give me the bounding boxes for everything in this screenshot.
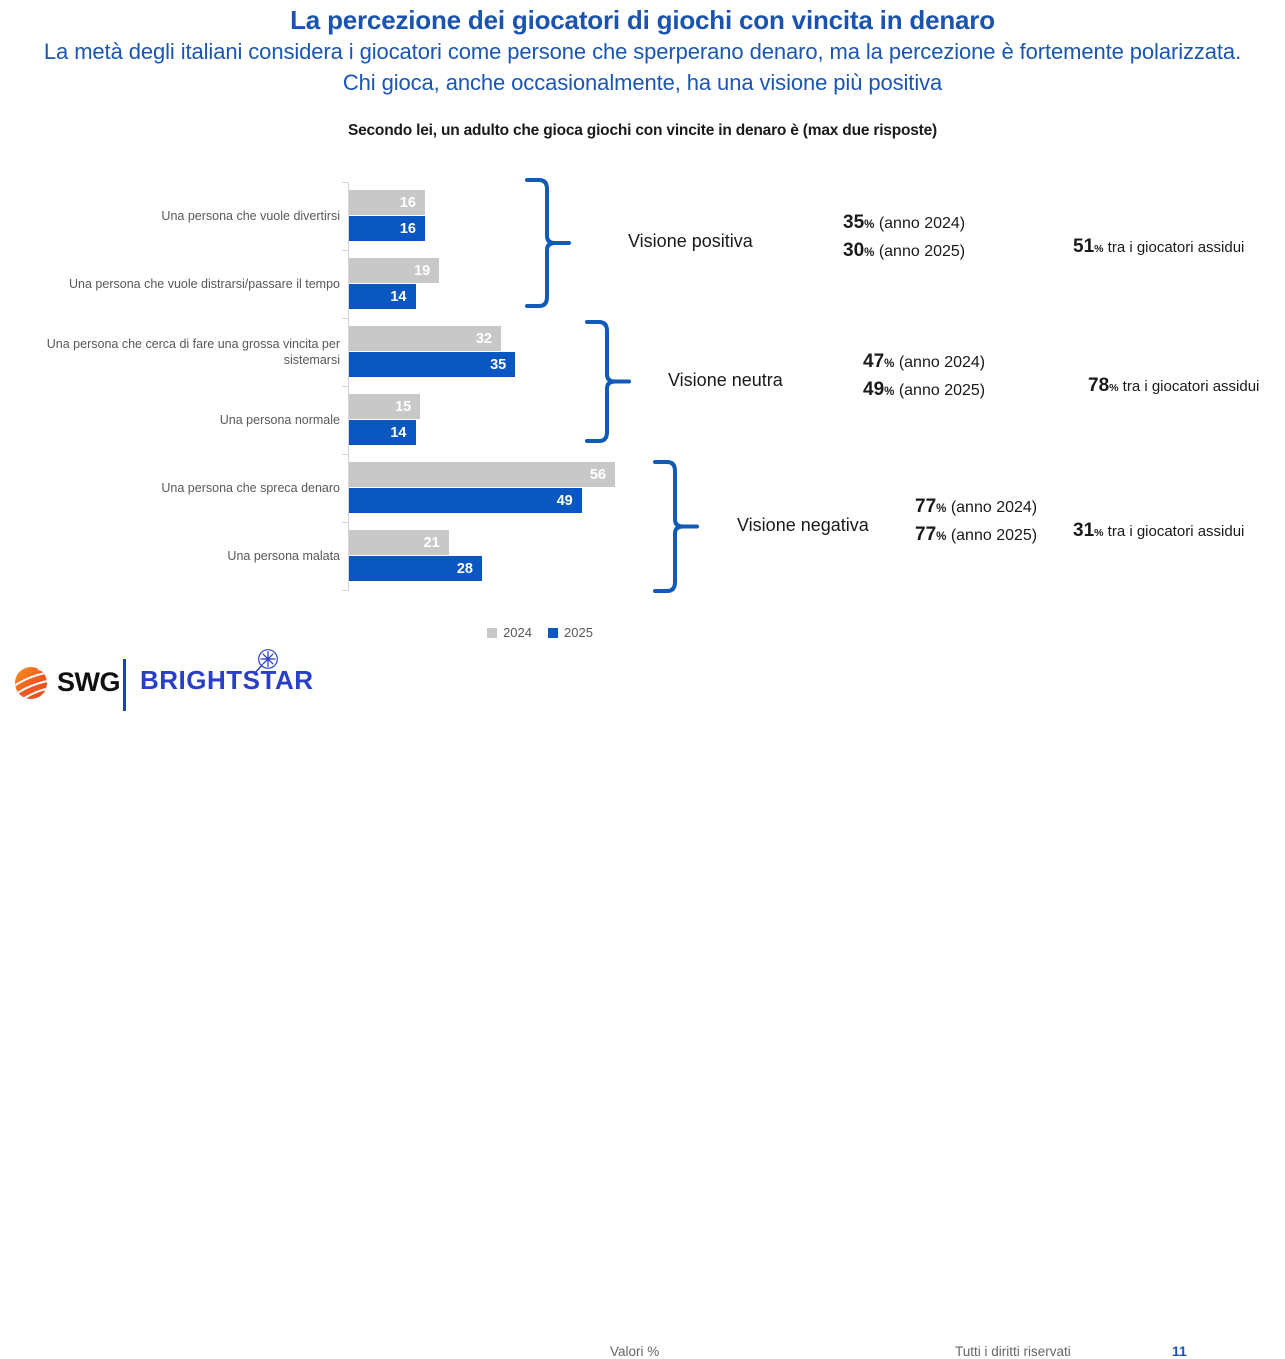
bar-value-label: 16 — [400, 195, 425, 211]
axis-tick — [342, 454, 348, 455]
group-extra-stat: 78% tra i giocatori assidui — [1088, 375, 1259, 397]
bar-2024: 16 — [349, 190, 425, 215]
bar-2025: 16 — [349, 216, 425, 241]
logo-divider — [123, 659, 126, 711]
group-brace — [653, 458, 701, 595]
bar-2025: 28 — [349, 556, 482, 581]
category-label: Una persona che spreca denaro — [40, 462, 340, 513]
legend-swatch — [548, 628, 558, 638]
group-stat-2025: 77% (anno 2025) — [915, 522, 1037, 550]
bar-value-label: 56 — [590, 467, 615, 483]
bar-value-label: 21 — [424, 535, 449, 551]
bar-2024: 56 — [349, 462, 615, 487]
swg-globe-icon — [8, 659, 54, 705]
bar-2025: 35 — [349, 352, 515, 377]
bar-value-label: 14 — [390, 425, 415, 441]
group-stat-2024: 47% (anno 2024) — [863, 349, 985, 377]
bar-2024: 21 — [349, 530, 449, 555]
group-extra-stat: 51% tra i giocatori assidui — [1073, 236, 1244, 258]
chart-legend: 20242025 — [0, 625, 1080, 640]
axis-tick — [342, 522, 348, 523]
group-stat-2024: 35% (anno 2024) — [843, 210, 965, 238]
brightstar-sparkle-icon — [253, 648, 281, 676]
legend-swatch — [487, 628, 497, 638]
bar-value-label: 16 — [400, 221, 425, 237]
bar-value-label: 32 — [476, 331, 501, 347]
axis-tick — [342, 590, 348, 591]
brightstar-logo: BRIGHTSTAR — [140, 665, 314, 696]
axis-tick — [342, 250, 348, 251]
bar-value-label: 28 — [457, 561, 482, 577]
axis-tick — [342, 386, 348, 387]
axis-tick — [342, 182, 348, 183]
group-stat-2024: 77% (anno 2024) — [915, 494, 1037, 522]
bar-2024: 32 — [349, 326, 501, 351]
page-number: 11 — [1172, 1343, 1187, 1359]
bar-2024: 19 — [349, 258, 439, 283]
bar-value-label: 35 — [490, 357, 515, 373]
category-label: Una persona che vuole distrarsi/passare … — [40, 258, 340, 309]
bar-2025: 49 — [349, 488, 582, 513]
category-label: Una persona malata — [40, 530, 340, 581]
bar-2025: 14 — [349, 420, 416, 445]
group-brace — [525, 176, 573, 310]
footer: SWG BRIGHTSTAR Valori % Tutti i diritti … — [0, 655, 1285, 723]
bar-2024: 15 — [349, 394, 420, 419]
axis-tick — [342, 318, 348, 319]
group-stat-2025: 49% (anno 2025) — [863, 377, 985, 405]
group-stats: 77% (anno 2024)77% (anno 2025) — [915, 494, 1037, 550]
group-name-label: Visione positiva — [628, 231, 753, 252]
group-extra-stat: 31% tra i giocatori assidui — [1073, 520, 1244, 542]
footer-values-note: Valori % — [610, 1344, 659, 1359]
bar-2025: 14 — [349, 284, 416, 309]
group-stats: 35% (anno 2024)30% (anno 2025) — [843, 210, 965, 266]
category-label: Una persona che cerca di fare una grossa… — [40, 326, 340, 377]
swg-logo: SWG — [8, 659, 120, 705]
group-name-label: Visione neutra — [668, 370, 783, 391]
category-label: Una persona normale — [40, 394, 340, 445]
brightstar-wordmark: BRIGHTSTAR — [140, 665, 314, 695]
legend-label: 2024 — [503, 625, 532, 640]
bar-value-label: 49 — [557, 493, 582, 509]
bar-value-label: 14 — [390, 289, 415, 305]
swg-wordmark: SWG — [57, 667, 120, 698]
bar-value-label: 19 — [414, 263, 439, 279]
group-brace — [585, 318, 633, 445]
group-stat-2025: 30% (anno 2025) — [843, 238, 965, 266]
category-label: Una persona che vuole divertirsi — [40, 190, 340, 241]
legend-item: 2025 — [548, 625, 593, 640]
legend-item: 2024 — [487, 625, 532, 640]
group-stats: 47% (anno 2024)49% (anno 2025) — [863, 349, 985, 405]
legend-label: 2025 — [564, 625, 593, 640]
bar-value-label: 15 — [395, 399, 420, 415]
bar-chart: Una persona che vuole divertirsi1616Una … — [0, 0, 1285, 723]
footer-rights-note: Tutti i diritti riservati — [955, 1344, 1071, 1359]
group-name-label: Visione negativa — [737, 515, 869, 536]
